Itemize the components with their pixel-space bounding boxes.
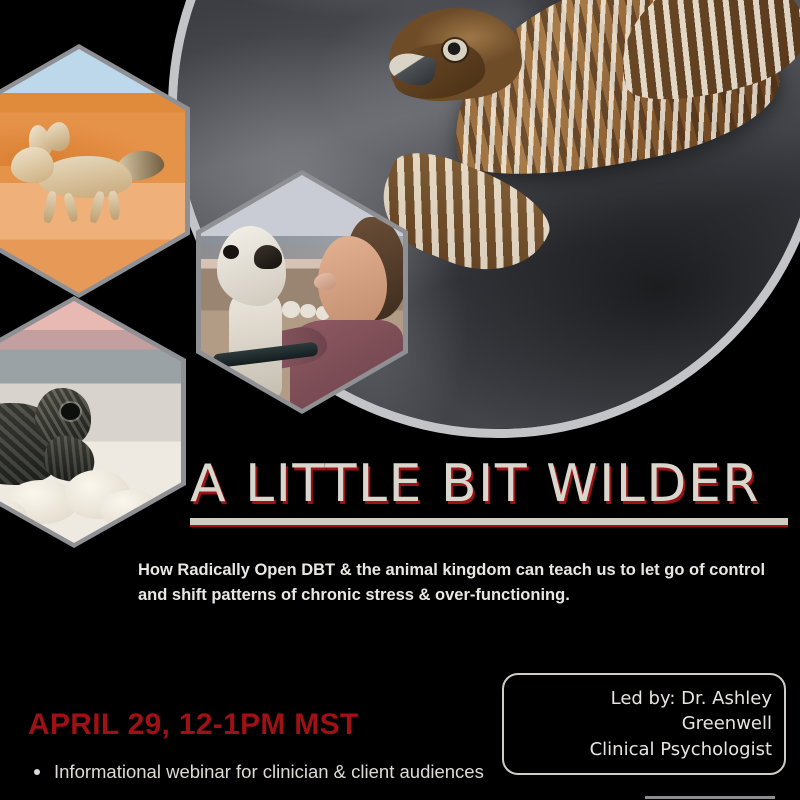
- list-item-label: Informational webinar for clinician & cl…: [54, 761, 484, 782]
- fox-leg: [42, 190, 57, 223]
- event-date: APRIL 29, 12-1PM MST: [28, 708, 359, 742]
- list-item: Informational webinar for clinician & cl…: [30, 760, 500, 784]
- details-bullet-list: Informational webinar for clinician & cl…: [30, 760, 500, 784]
- poster-title: A LITTLE BIT WILDER: [190, 458, 790, 510]
- fox-head: [11, 147, 53, 184]
- hawk-eye: [443, 39, 467, 61]
- sheep: [282, 301, 300, 317]
- llama-muzzle: [254, 245, 282, 268]
- speaker-name: Led by: Dr. Ashley Greenwell: [518, 686, 772, 736]
- sheep: [300, 304, 316, 318]
- poster-subtitle: How Radically Open DBT & the animal king…: [138, 558, 790, 608]
- fox-photo-hexagon: [0, 44, 190, 298]
- turtle-eye: [61, 403, 80, 420]
- title-underline-rule: [190, 518, 788, 527]
- sand-mound: [100, 490, 160, 529]
- bullet-dot-icon: [34, 769, 40, 775]
- fox-photo-inner: [0, 49, 185, 293]
- speaker-credit-text: Led by: Dr. Ashley Greenwell Clinical Ps…: [504, 686, 784, 762]
- bottom-divider-rule: [645, 796, 775, 799]
- woman-lips: [314, 273, 336, 289]
- desert-dune-scene: [0, 49, 185, 293]
- poster-canvas: A LITTLE BIT WILDER How Radically Open D…: [0, 0, 800, 800]
- fox-leg: [107, 190, 120, 220]
- beach-dawn-scene: [0, 301, 181, 543]
- turtle-photo-inner: [0, 301, 181, 543]
- turtle-photo-hexagon: [0, 296, 186, 548]
- speaker-credit-box: Led by: Dr. Ashley Greenwell Clinical Ps…: [502, 673, 786, 775]
- title-block: A LITTLE BIT WILDER: [190, 458, 790, 527]
- speaker-title: Clinical Psychologist: [518, 737, 772, 762]
